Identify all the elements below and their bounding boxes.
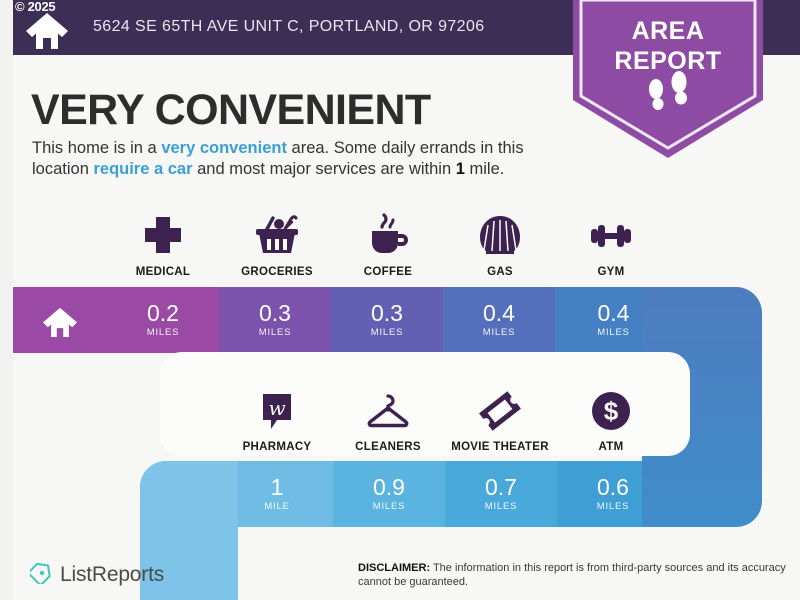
distance-value: 0.6: [597, 476, 629, 499]
poi-gas: GAS: [444, 205, 556, 278]
dumbbell-icon: [555, 205, 667, 261]
poi-label: GYM: [555, 266, 667, 278]
page-title: VERY CONVENIENT: [31, 86, 431, 135]
distance-segment-movie-theater: 0.7 MILES: [445, 461, 557, 527]
walgreens-w-icon: w: [221, 380, 333, 436]
summary-part-6: mile.: [465, 160, 504, 178]
distance-value: 0.4: [483, 302, 515, 325]
distance-segment-medical: 0.2 MILES: [107, 287, 219, 353]
listreports-house-icon: [30, 560, 53, 589]
distance-segment-gas: 0.4 MILES: [443, 287, 555, 353]
dollar-circle-icon: $: [555, 380, 667, 436]
poi-label: MOVIE THEATER: [444, 441, 556, 453]
distance-value: 0.2: [147, 302, 179, 325]
area-report-badge: AREA REPORT: [573, 0, 763, 158]
distance-value: 0.3: [371, 302, 403, 325]
disclaimer-label: DISCLAIMER:: [358, 562, 430, 574]
page-left-edge: [0, 0, 13, 600]
distance-value: 0.7: [485, 476, 517, 499]
badge-line-1: AREA: [573, 16, 763, 46]
gas-shell-icon: [444, 205, 556, 261]
distance-unit: MILE: [264, 501, 289, 512]
summary-part-0: This home is in a: [32, 139, 161, 157]
badge-title: AREA REPORT: [573, 16, 763, 76]
distance-unit: MILES: [597, 501, 630, 512]
listreports-logo[interactable]: ListReports: [30, 560, 164, 589]
poi-medical: MEDICAL: [107, 205, 219, 278]
poi-label: GAS: [444, 266, 556, 278]
poi-atm: $ ATM: [555, 380, 667, 453]
poi-label: COFFEE: [332, 266, 444, 278]
poi-groceries: GROCERIES: [221, 205, 333, 278]
listreports-logo-text: ListReports: [60, 563, 164, 587]
movie-ticket-icon: [444, 380, 556, 436]
home-marker-segment: [13, 287, 107, 353]
distance-value: 0.9: [373, 476, 405, 499]
poi-label: ATM: [555, 441, 667, 453]
home-icon: [40, 303, 80, 337]
distance-unit: MILES: [373, 501, 406, 512]
svg-text:$: $: [604, 396, 619, 426]
summary-part-5: 1: [456, 160, 465, 178]
distance-unit: MILES: [485, 501, 518, 512]
poi-cleaners: CLEANERS: [332, 380, 444, 453]
svg-text:w: w: [268, 396, 285, 420]
copyright-label: © 2025: [15, 0, 55, 14]
disclaimer: DISCLAIMER: The information in this repo…: [358, 561, 788, 589]
distance-unit: MILES: [597, 327, 630, 338]
poi-label: CLEANERS: [332, 441, 444, 453]
poi-gym: GYM: [555, 205, 667, 278]
distance-segment-cleaners: 0.9 MILES: [333, 461, 445, 527]
property-address: 5624 SE 65TH AVE UNIT C, PORTLAND, OR 97…: [93, 18, 485, 36]
distance-segment-groceries: 0.3 MILES: [219, 287, 331, 353]
summary-part-4: and most major services are within: [193, 160, 456, 178]
grocery-basket-icon: [221, 205, 333, 261]
distance-value: 1: [271, 476, 284, 499]
distance-unit: MILES: [259, 327, 292, 338]
summary-sentence: This home is in a very convenient area. …: [32, 138, 577, 180]
summary-part-3: require a car: [93, 160, 192, 178]
distance-value: 0.4: [598, 302, 630, 325]
area-report-page: © 2025 5624 SE 65TH AVE UNIT C, PORTLAND…: [0, 0, 800, 600]
distance-segment-coffee: 0.3 MILES: [331, 287, 443, 353]
poi-coffee: COFFEE: [332, 205, 444, 278]
poi-label: PHARMACY: [221, 441, 333, 453]
distance-value: 0.3: [259, 302, 291, 325]
summary-part-1: very convenient: [161, 139, 287, 157]
medical-cross-icon: [107, 205, 219, 261]
distance-unit: MILES: [147, 327, 180, 338]
poi-label: MEDICAL: [107, 266, 219, 278]
distance-bar-row-1: 0.2 MILES0.3 MILES0.3 MILES0.4 MILES0.4 …: [13, 287, 672, 353]
clothes-hanger-icon: [332, 380, 444, 436]
coffee-cup-icon: [332, 205, 444, 261]
distance-unit: MILES: [371, 327, 404, 338]
badge-line-2: REPORT: [573, 46, 763, 76]
poi-movie-theater: MOVIE THEATER: [444, 380, 556, 453]
distance-unit: MILES: [483, 327, 516, 338]
poi-pharmacy: w PHARMACY: [221, 380, 333, 453]
poi-label: GROCERIES: [221, 266, 333, 278]
